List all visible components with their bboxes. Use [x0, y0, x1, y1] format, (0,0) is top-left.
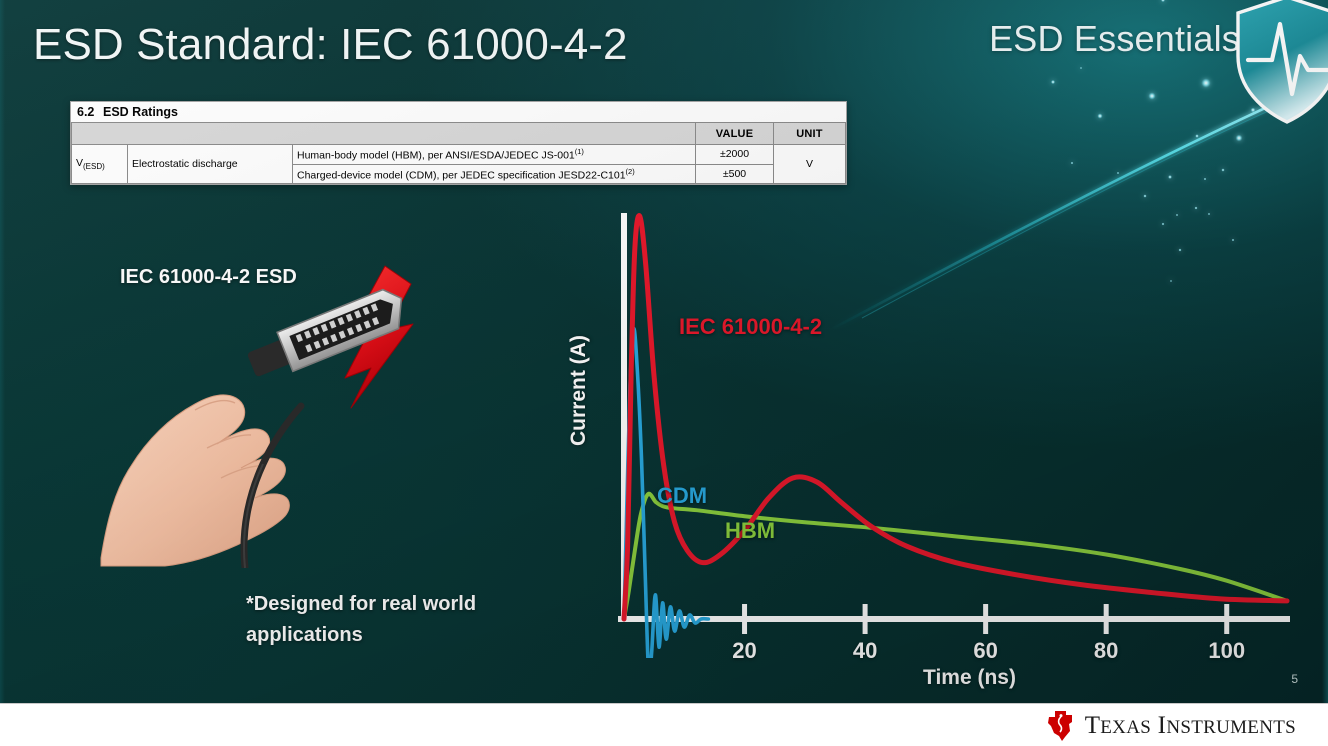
ti-word-texas-rest: EXAS [1100, 717, 1151, 738]
header-unit: UNIT [774, 123, 846, 145]
chart-curves [624, 216, 1287, 658]
slide-title: ESD Standard: IEC 61000-4-2 [33, 20, 628, 70]
description-text: Human-body model (HBM), per ANSI/ESDA/JE… [297, 150, 575, 162]
cdm-desc: Charged-device model (CDM), per JEDEC sp… [297, 169, 626, 181]
slide-number: 5 [1291, 672, 1298, 686]
texas-instruments-logo: TEXAS INSTRUMENTS [1046, 710, 1296, 742]
ratings-grid: VALUE UNIT V(ESD) Electrostatic discharg… [71, 122, 846, 184]
chart-series-hbm [624, 494, 1287, 619]
ti-word-texas-cap: T [1085, 712, 1101, 739]
chart-x-axis-label: Time (ns) [923, 666, 1016, 690]
chart-x-tick-label: 20 [732, 638, 756, 664]
cdm-footnote: (2) [626, 167, 635, 176]
value-cell: ±500 [696, 164, 774, 184]
unit-cell: V [774, 145, 846, 184]
hbm-desc: Human-body model (HBM), per ANSI/ESDA/JE… [297, 150, 575, 162]
chart-x-tick-label: 60 [973, 638, 997, 664]
series-label-cdm: CDM [657, 483, 707, 509]
header-value: VALUE [696, 123, 774, 145]
esd-ratings-table: 6.2ESD Ratings VALUE UNIT V(ESD) Electro… [70, 101, 847, 185]
section-number: 6.2 [77, 105, 103, 119]
table-section-heading: 6.2ESD Ratings [71, 102, 846, 122]
table-row: V(ESD) Electrostatic discharge Human-bod… [72, 145, 846, 165]
series-label-iec: IEC 61000-4-2 [679, 314, 822, 340]
texas-instruments-wordmark: TEXAS INSTRUMENTS [1085, 712, 1296, 740]
chart-x-tick-label: 80 [1094, 638, 1118, 664]
symbol-text: V [76, 157, 83, 169]
chart-plot-area [575, 198, 1310, 658]
hbm-footnote: (1) [575, 147, 584, 156]
symbol-cell: V(ESD) [72, 145, 128, 184]
description-cell: Human-body model (HBM), per ANSI/ESDA/JE… [293, 145, 696, 165]
chart-x-tick-label: 40 [853, 638, 877, 664]
section-title: ESD Ratings [103, 105, 178, 119]
texas-instruments-logo-icon [1046, 710, 1076, 742]
chart-y-axis-label: Current (A) [567, 335, 591, 446]
esd-waveform-chart: Current (A) Time (ns) IEC 61000-4-2 CDM … [575, 198, 1310, 698]
chart-x-tick-label: 100 [1208, 638, 1245, 664]
symbol-subscript: (ESD) [83, 162, 105, 171]
note-line-1: *Designed for real world [246, 589, 546, 620]
hand-holding-hdmi-cable-icon [95, 258, 425, 568]
left-edge-highlight [0, 0, 5, 703]
chart-series-iec-61000-4-2 [624, 216, 1287, 619]
presentation-slide: ESD Standard: IEC 61000-4-2 ESD Essentia… [0, 0, 1328, 746]
shield-pulse-icon [1232, 0, 1328, 126]
parameter-cell: Electrostatic discharge [128, 145, 293, 184]
series-label-hbm: HBM [725, 518, 775, 544]
header-blank-cell [72, 123, 696, 145]
ti-word-instruments-rest: NSTRUMENTS [1166, 717, 1296, 738]
value-cell: ±2000 [696, 145, 774, 165]
table-header-row: VALUE UNIT [72, 123, 846, 145]
note-text: *Designed for real world applications [246, 589, 546, 651]
slide-canvas: ESD Standard: IEC 61000-4-2 ESD Essentia… [0, 0, 1328, 703]
note-line-2: applications [246, 620, 546, 651]
brand-title: ESD Essentials [989, 18, 1240, 60]
description-cell: Charged-device model (CDM), per JEDEC sp… [293, 164, 696, 184]
